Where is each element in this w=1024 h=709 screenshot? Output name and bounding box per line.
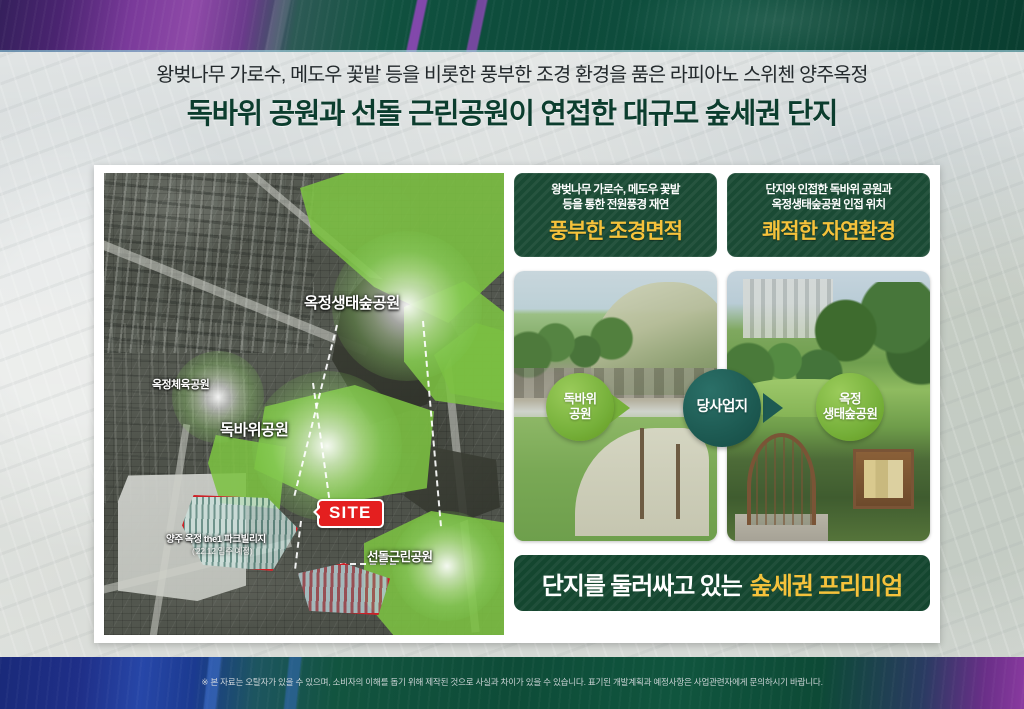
treeline-shape (514, 298, 636, 379)
feature-headline-nature: 쾌적한 자연환경 (762, 215, 895, 245)
feature-subtitle-line2: 옥정생태숲공원 인접 위치 (772, 198, 886, 213)
feature-subtitle-line2: 등을 통한 전원풍경 재연 (562, 198, 668, 213)
flow-label-project-site: 당사업지 (683, 369, 761, 447)
headline-subtitle: 왕벚나무 가로수, 메도우 꽃밭 등을 비롯한 풍부한 조경 환경을 품은 라피… (0, 64, 1024, 87)
flow-label-line2: 공원 (569, 407, 591, 422)
map-label-seondol-park: 선돌근린공원 (367, 546, 432, 565)
map-label-village-name: 양주 옥정 the1 파크빌리지 (166, 531, 266, 545)
map-label-eco-park: 옥정생태숲공원 (304, 291, 400, 313)
arrow-right-icon-right (763, 393, 783, 423)
wooden-arbor-slats (747, 433, 816, 525)
aerial-site-map[interactable]: 옥정생태숲공원 독바위공원 옥정체육공원 선돌근린공원 SITE 양주 옥정 t… (104, 173, 504, 635)
flow-label-center: 당사업지 (697, 399, 748, 416)
page-footer: ※ 본 자료는 오탈자가 있을 수 있으며, 소비자의 이해를 돕기 위해 제작… (0, 657, 1024, 709)
sapling-shape (676, 444, 680, 520)
banner-text-primary: 단지를 둘러싸고 있는 (542, 566, 742, 601)
feature-subtitle-line1: 단지와 인접한 독바위 공원과 (765, 183, 891, 198)
map-label-sports-park: 옥정체육공원 (152, 376, 209, 392)
feature-box-landscaping: 왕벚나무 가로수, 메도우 꽃밭 등을 통한 전원풍경 재연 풍부한 조경면적 (514, 173, 717, 257)
feature-box-row: 왕벚나무 가로수, 메도우 꽃밭 등을 통한 전원풍경 재연 풍부한 조경면적 … (514, 173, 930, 257)
sapling-shape (640, 428, 644, 520)
headline-title: 독바위 공원과 선돌 근린공원이 연접한 대규모 숲세권 단지 (0, 97, 1024, 131)
headline-block: 왕벚나무 가로수, 메도우 꽃밭 등을 비롯한 풍부한 조경 환경을 품은 라피… (0, 64, 1024, 132)
flow-label-eco-forest-park: 옥정 생태숲공원 (816, 373, 884, 441)
page-header (0, 0, 1024, 52)
flow-label-dokbawi-park: 독바위 공원 (546, 373, 614, 441)
footer-disclaimer: ※ 본 자료는 오탈자가 있을 수 있으며, 소비자의 이해를 돕기 위해 제작… (0, 676, 1024, 688)
banner-text-highlight: 숲세권 프리미엄 (750, 566, 902, 601)
flow-label-line1: 독바위 (564, 392, 597, 407)
map-label-dokbawi-park: 독바위공원 (220, 418, 288, 440)
info-signboard-shape (853, 449, 914, 508)
right-content-column: 왕벚나무 가로수, 메도우 꽃밭 등을 통한 전원풍경 재연 풍부한 조경면적 … (514, 173, 930, 635)
flow-label-line1: 옥정 (839, 392, 861, 407)
site-marker-badge[interactable]: SITE (317, 499, 384, 528)
flow-label-line2: 생태숲공원 (823, 407, 878, 422)
feature-box-nature: 단지와 인접한 독바위 공원과 옥정생태숲공원 인접 위치 쾌적한 자연환경 (727, 173, 930, 257)
map-label-village-note: ('22.12 입주 예정) (192, 545, 252, 557)
feature-headline-landscaping: 풍부한 조경면적 (549, 215, 682, 245)
summary-banner: 단지를 둘러싸고 있는 숲세권 프리미엄 (514, 555, 930, 611)
content-panel: 옥정생태숲공원 독바위공원 옥정체육공원 선돌근린공원 SITE 양주 옥정 t… (94, 165, 940, 643)
photo-gallery: 독바위 공원 당사업지 옥정 생태숲공원 (514, 271, 930, 541)
header-streak-decoration (0, 0, 1024, 52)
feature-subtitle-line1: 왕벚나무 가로수, 메도우 꽃밭 (551, 183, 680, 198)
header-bottom-rule (0, 50, 1024, 52)
